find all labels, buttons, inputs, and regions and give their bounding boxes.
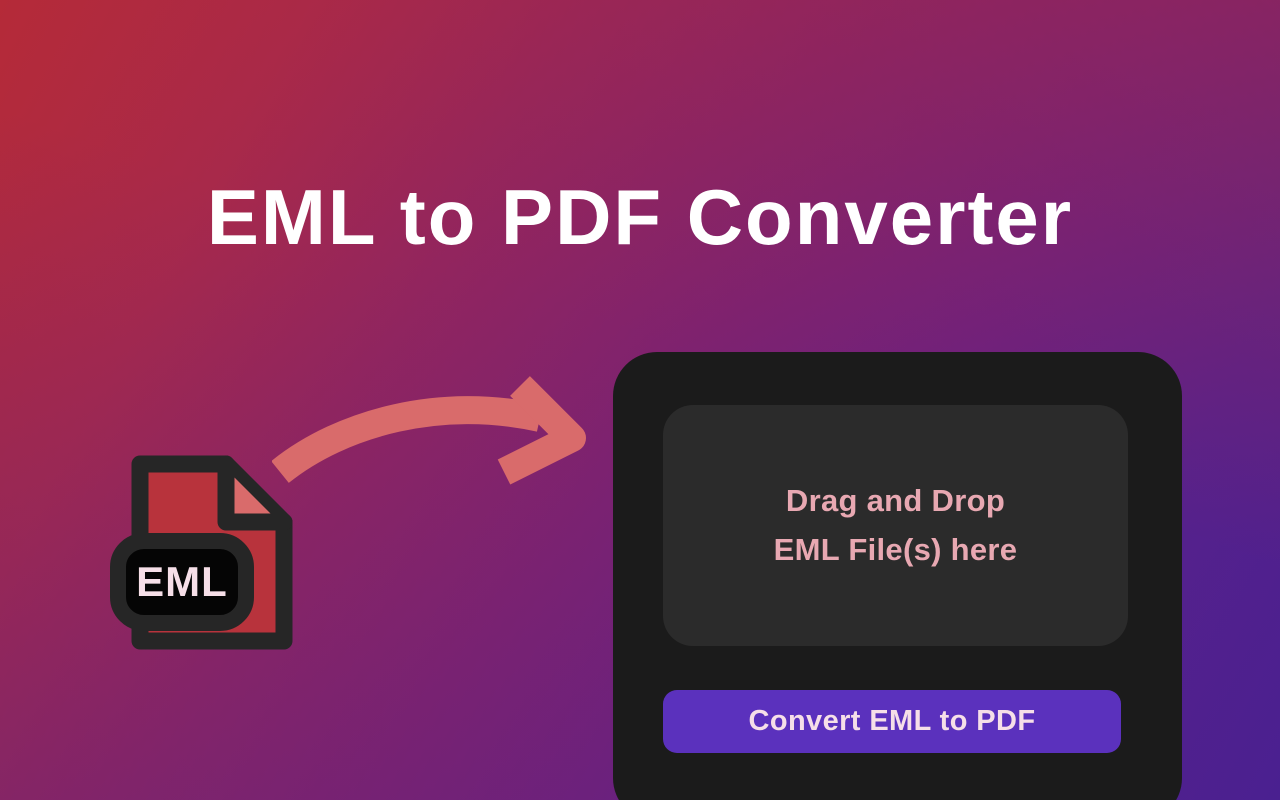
page-title: EML to PDF Converter	[0, 178, 1280, 256]
eml-file-icon: EML	[108, 450, 298, 655]
dropzone-line-1: Drag and Drop	[786, 477, 1005, 525]
drag-arrow-icon	[272, 372, 592, 490]
app-background: EML to PDF Converter EML Drag and Drop E…	[0, 0, 1280, 800]
converter-panel: Drag and Drop EML File(s) here Convert E…	[613, 352, 1182, 800]
dropzone-line-2: EML File(s) here	[774, 526, 1018, 574]
convert-eml-to-pdf-button[interactable]: Convert EML to PDF	[663, 690, 1121, 753]
eml-badge-label: EML	[118, 541, 246, 623]
arrow-head	[504, 386, 572, 472]
file-dropzone[interactable]: Drag and Drop EML File(s) here	[663, 405, 1128, 646]
